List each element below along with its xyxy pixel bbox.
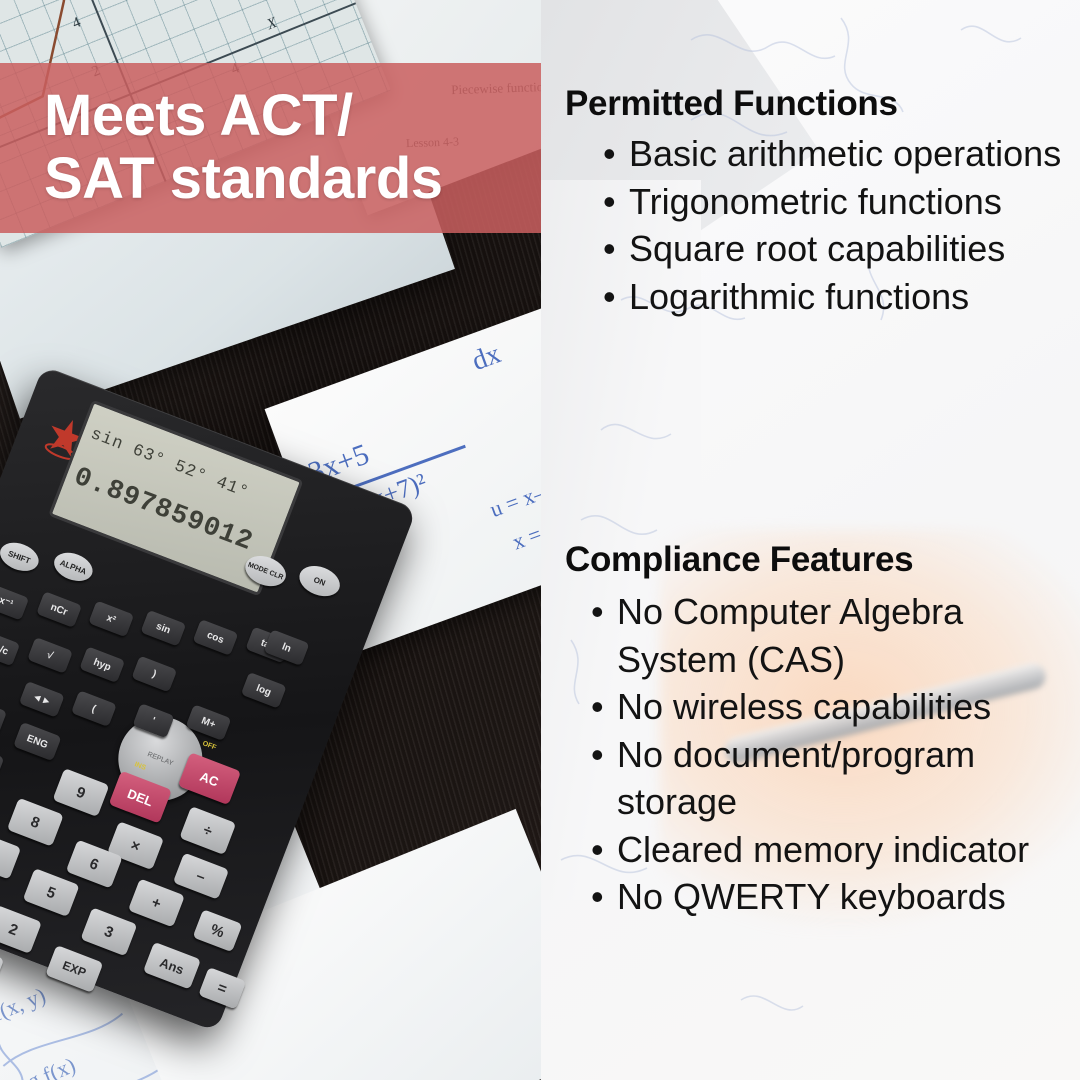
key-alpha[interactable]: ALPHA: [50, 548, 97, 587]
key-divide[interactable]: ÷: [179, 806, 236, 855]
key-5[interactable]: 5: [23, 868, 80, 917]
list-item-label: Trigonometric functions: [629, 178, 1073, 226]
hw-differential: dx: [468, 338, 505, 378]
list-item: • Basic arithmetic operations: [603, 130, 1073, 178]
key-minus[interactable]: –: [173, 853, 229, 900]
key-7[interactable]: 7: [0, 831, 21, 880]
list-item: • Trigonometric functions: [603, 178, 1073, 226]
infographic-stage: Piecewise functions Lesson 4-3 8 6 4 2 4…: [0, 0, 1080, 1080]
list-item-label: Cleared memory indicator: [617, 826, 1080, 874]
list-item-label: No QWERTY keyboards: [617, 873, 1080, 921]
section-title-permitted-functions: Permitted Functions: [565, 84, 898, 124]
headline-line-2: SAT standards: [44, 148, 541, 211]
list-item: • Square root capabilities: [603, 225, 1073, 273]
svg-text:f(x, y): f(x, y): [0, 982, 49, 1026]
bullet-point-icon: •: [591, 873, 617, 921]
key-cos[interactable]: cos: [193, 619, 239, 656]
bullet-point-icon: •: [591, 588, 617, 636]
hw-substitution-u: u = x–: [487, 479, 541, 523]
key-eng[interactable]: ENG: [13, 722, 62, 761]
key-rcl[interactable]: RCL: [0, 743, 4, 782]
key-on[interactable]: ON: [295, 560, 344, 601]
key-ac-off-sublabel: OFF: [201, 740, 217, 752]
list-item: • No Computer Algebra System (CAS): [591, 588, 1080, 683]
list-item-label: No Computer Algebra System (CAS): [617, 588, 1080, 683]
key-2[interactable]: 2: [0, 905, 42, 954]
key-ans[interactable]: Ans: [143, 942, 201, 990]
bullet-point-icon: •: [591, 731, 617, 779]
list-item: • No QWERTY keyboards: [591, 873, 1080, 921]
key-ac[interactable]: AC: [178, 752, 241, 805]
key-ncr[interactable]: nCr: [36, 591, 82, 628]
key-x-inverse[interactable]: x⁻¹: [0, 584, 29, 621]
list-item-label: Logarithmic functions: [629, 273, 1073, 321]
bullet-point-icon: •: [591, 826, 617, 874]
key-8[interactable]: 8: [7, 798, 64, 847]
list-item: • No wireless capabilities: [591, 683, 1080, 731]
key-3[interactable]: 3: [80, 907, 137, 956]
bullet-point-icon: •: [603, 130, 629, 178]
section-title-compliance-features: Compliance Features: [565, 540, 913, 580]
key-9[interactable]: 9: [52, 768, 109, 817]
bullet-point-icon: •: [603, 273, 629, 321]
key-percent[interactable]: %: [193, 909, 243, 952]
features-text-panel: Permitted Functions • Basic arithmetic o…: [541, 0, 1080, 1080]
key-sin[interactable]: sin: [140, 610, 186, 647]
key-negative[interactable]: (–): [0, 697, 7, 734]
list-item: • Logarithmic functions: [603, 273, 1073, 321]
key-close-paren[interactable]: ): [131, 656, 177, 693]
key-hyp[interactable]: hyp: [79, 646, 125, 683]
features-content: Permitted Functions • Basic arithmetic o…: [541, 0, 1080, 1080]
headline-banner: Meets ACT/ SAT standards: [0, 63, 541, 233]
bullet-point-icon: •: [603, 178, 629, 226]
calculator-photo-panel: Piecewise functions Lesson 4-3 8 6 4 2 4…: [0, 0, 541, 1080]
list-item: • Cleared memory indicator: [591, 826, 1080, 874]
key-abc-fraction[interactable]: a b/c: [0, 630, 20, 667]
key-open-paren[interactable]: (: [71, 690, 117, 727]
list-item-label: No document/program storage: [617, 731, 1080, 826]
headline-line-1: Meets ACT/: [44, 85, 541, 148]
list-item-label: Basic arithmetic operations: [629, 130, 1073, 178]
bullet-list-compliance-features: • No Computer Algebra System (CAS) • No …: [591, 588, 1080, 921]
key-log[interactable]: log: [241, 672, 287, 709]
hw-substitution-x: x = u: [509, 515, 541, 555]
list-item-label: Square root capabilities: [629, 225, 1073, 273]
key-ln[interactable]: ln: [264, 629, 310, 666]
bullet-point-icon: •: [603, 225, 629, 273]
list-item: • No document/program storage: [591, 731, 1080, 826]
list-item-label: No wireless capabilities: [617, 683, 1080, 731]
key-x-squared[interactable]: x²: [88, 601, 134, 638]
key-arrow[interactable]: ◄►: [19, 681, 65, 718]
key-shift[interactable]: SHIFT: [0, 538, 43, 577]
bullet-list-permitted-functions: • Basic arithmetic operations • Trigonom…: [603, 130, 1073, 320]
key-square-root[interactable]: √: [27, 637, 73, 674]
bullet-point-icon: •: [591, 683, 617, 731]
key-plus[interactable]: +: [128, 878, 185, 927]
